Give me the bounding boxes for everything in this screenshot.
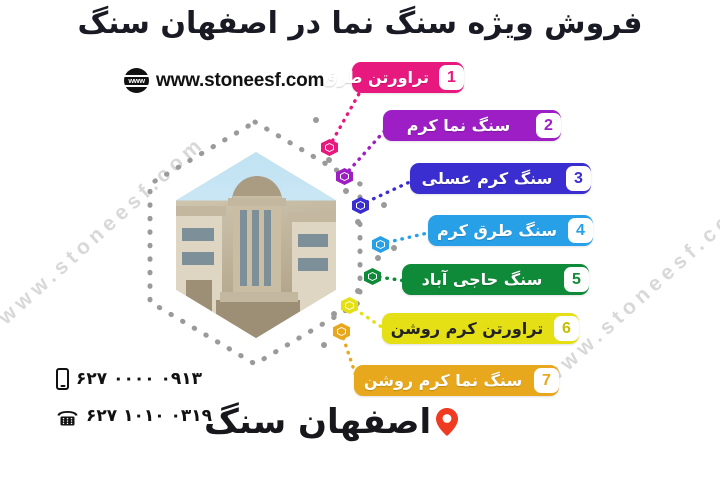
stone-type-bar-7[interactable]: 7 سنگ نما کرم روشن: [354, 365, 559, 396]
contact-block: ۰۹۱۳ ۰۰۰۰ ۶۲۷ ۰۳۱۹ ۱۰۱۰ ۶۲۷: [56, 368, 212, 442]
telephone-icon: [56, 407, 79, 426]
stone-type-label-1: تراورتن طرق: [319, 68, 439, 87]
stone-type-bar-6[interactable]: 6 تراورتن کرم روشن: [382, 313, 579, 344]
www-globe-icon: www: [124, 68, 149, 93]
contact-row-mobile[interactable]: ۰۹۱۳ ۰۰۰۰ ۶۲۷: [56, 368, 212, 390]
stone-type-bar-3[interactable]: 3 سنگ کرم عسلی: [410, 163, 591, 194]
stone-type-badge-3: 3: [566, 166, 591, 191]
page-title: فروش ویژه سنگ نما در اصفهان سنگ: [0, 6, 720, 41]
brand-logo[interactable]: اصفهان سنگ: [204, 402, 459, 442]
stone-type-label-2: سنگ نما کرم: [387, 116, 536, 135]
contact-row-landline[interactable]: ۰۳۱۹ ۱۰۱۰ ۶۲۷: [56, 406, 212, 426]
website-line[interactable]: www www.stoneesf.com: [124, 68, 324, 93]
landline-number: ۰۳۱۹ ۱۰۱۰ ۶۲۷: [86, 406, 212, 426]
stone-type-label-6: تراورتن کرم روشن: [386, 319, 554, 338]
location-pin-icon: [435, 407, 459, 437]
stone-type-label-5: سنگ حاجی آباد: [406, 270, 564, 289]
mobile-phone-icon: [56, 368, 69, 390]
connector-node-4: [372, 236, 389, 253]
stone-type-badge-7: 7: [534, 368, 559, 393]
stone-type-bar-5[interactable]: 5 سنگ حاجی آباد: [402, 264, 589, 295]
www-globe-icon-label: www: [128, 77, 144, 85]
stone-type-bar-2[interactable]: 2 سنگ نما کرم: [383, 110, 561, 141]
stone-type-label-3: سنگ کرم عسلی: [414, 169, 566, 188]
infographic-poster: www.stoneesf.com www.stoneesf.com فروش و…: [0, 0, 720, 480]
stone-type-badge-1: 1: [439, 65, 464, 90]
stone-type-label-7: سنگ نما کرم روشن: [358, 371, 534, 390]
stone-type-bar-1[interactable]: 1 تراورتن طرق: [352, 62, 464, 93]
mobile-number: ۰۹۱۳ ۰۰۰۰ ۶۲۷: [76, 369, 202, 389]
stone-type-badge-5: 5: [564, 267, 589, 292]
brand-name: اصفهان سنگ: [204, 402, 431, 442]
stone-type-label-4: سنگ طرق کرم: [432, 221, 568, 240]
website-url: www.stoneesf.com: [156, 70, 324, 92]
connector-node-5: [364, 268, 381, 285]
stone-type-badge-2: 2: [536, 113, 561, 138]
stone-type-badge-6: 6: [554, 316, 579, 341]
stone-type-bar-4[interactable]: 4 سنگ طرق کرم: [428, 215, 593, 246]
stone-type-badge-4: 4: [568, 218, 593, 243]
